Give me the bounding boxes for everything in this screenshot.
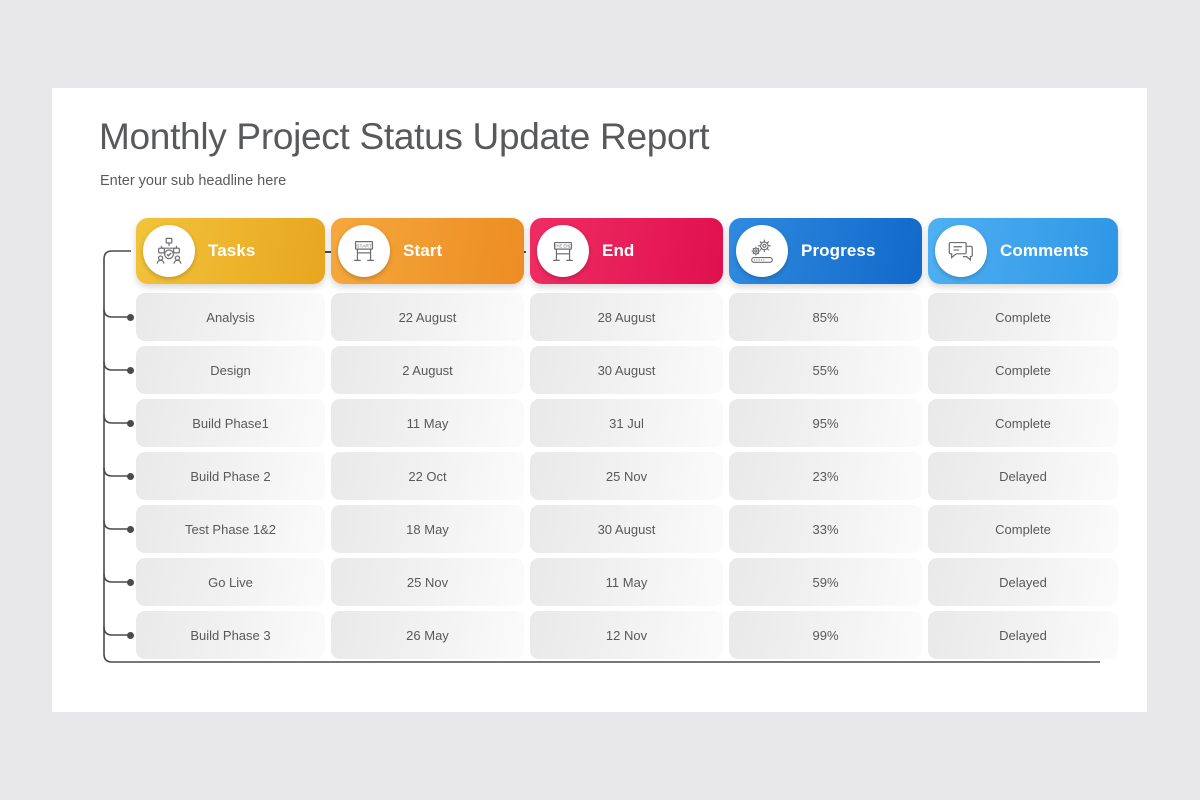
cell-progress[interactable]: 23% <box>729 452 922 500</box>
header-label-comments: Comments <box>1000 241 1089 261</box>
start-banner-icon: START <box>338 225 390 277</box>
cell-start[interactable]: 26 May <box>331 611 524 659</box>
header-cell-end[interactable]: THE END End <box>530 218 723 284</box>
header-cell-comments[interactable]: Comments <box>928 218 1118 284</box>
cell-progress[interactable]: 99% <box>729 611 922 659</box>
cell-task[interactable]: Design <box>136 346 325 394</box>
page-subtitle: Enter your sub headline here <box>100 173 286 189</box>
svg-text:START: START <box>356 243 372 249</box>
cell-end[interactable]: 12 Nov <box>530 611 723 659</box>
header-cell-progress[interactable]: Progress <box>729 218 922 284</box>
cell-start[interactable]: 25 Nov <box>331 558 524 606</box>
slide-card: Monthly Project Status Update Report Ent… <box>52 88 1147 712</box>
cell-comments[interactable]: Delayed <box>928 558 1118 606</box>
cell-task[interactable]: Analysis <box>136 293 325 341</box>
cell-progress[interactable]: 59% <box>729 558 922 606</box>
svg-text:THE END: THE END <box>554 244 572 249</box>
header-label-end: End <box>602 241 634 261</box>
cell-comments[interactable]: Complete <box>928 293 1118 341</box>
table-row: Design2 August30 August55%Complete <box>136 346 1100 394</box>
row-branch-dot <box>127 473 134 480</box>
cell-comments[interactable]: Complete <box>928 399 1118 447</box>
cell-end[interactable]: 31 Jul <box>530 399 723 447</box>
row-branch-dot <box>127 314 134 321</box>
cell-end[interactable]: 25 Nov <box>530 452 723 500</box>
cell-comments[interactable]: Delayed <box>928 611 1118 659</box>
header-label-tasks: Tasks <box>208 241 255 261</box>
cell-comments[interactable]: Complete <box>928 505 1118 553</box>
cell-task[interactable]: Build Phase 3 <box>136 611 325 659</box>
table-header-row: Tasks START Start THE END <box>136 218 1100 284</box>
left-bracket-connector <box>100 218 1100 678</box>
header-cell-tasks[interactable]: Tasks <box>136 218 325 284</box>
status-table: Tasks START Start THE END <box>100 218 1100 678</box>
cell-end[interactable]: 30 August <box>530 505 723 553</box>
cell-progress[interactable]: 55% <box>729 346 922 394</box>
the-end-banner-icon: THE END <box>537 225 589 277</box>
table-row: Build Phase 326 May12 Nov99%Delayed <box>136 611 1100 659</box>
row-branch-dot <box>127 367 134 374</box>
page-title: Monthly Project Status Update Report <box>99 116 709 158</box>
cell-task[interactable]: Test Phase 1&2 <box>136 505 325 553</box>
cell-start[interactable]: 18 May <box>331 505 524 553</box>
cell-start[interactable]: 22 August <box>331 293 524 341</box>
cell-comments[interactable]: Delayed <box>928 452 1118 500</box>
header-label-progress: Progress <box>801 241 876 261</box>
row-branch-dot <box>127 579 134 586</box>
cell-task[interactable]: Build Phase 2 <box>136 452 325 500</box>
cell-task[interactable]: Build Phase1 <box>136 399 325 447</box>
row-branch-dot <box>127 420 134 427</box>
cell-progress[interactable]: 95% <box>729 399 922 447</box>
gears-progress-icon <box>736 225 788 277</box>
cell-task[interactable]: Go Live <box>136 558 325 606</box>
chat-bubbles-icon <box>935 225 987 277</box>
table-row: Analysis22 August28 August85%Complete <box>136 293 1100 341</box>
header-label-start: Start <box>403 241 442 261</box>
team-checkmark-icon <box>143 225 195 277</box>
table-row: Test Phase 1&218 May30 August33%Complete <box>136 505 1100 553</box>
cell-start[interactable]: 2 August <box>331 346 524 394</box>
cell-start[interactable]: 22 Oct <box>331 452 524 500</box>
cell-end[interactable]: 28 August <box>530 293 723 341</box>
cell-progress[interactable]: 33% <box>729 505 922 553</box>
cell-end[interactable]: 11 May <box>530 558 723 606</box>
table-row: Go Live25 Nov11 May59%Delayed <box>136 558 1100 606</box>
cell-start[interactable]: 11 May <box>331 399 524 447</box>
table-row: Build Phase 222 Oct25 Nov23%Delayed <box>136 452 1100 500</box>
table-row: Build Phase111 May31 Jul95%Complete <box>136 399 1100 447</box>
row-branch-dot <box>127 632 134 639</box>
cell-progress[interactable]: 85% <box>729 293 922 341</box>
cell-comments[interactable]: Complete <box>928 346 1118 394</box>
cell-end[interactable]: 30 August <box>530 346 723 394</box>
row-branch-dot <box>127 526 134 533</box>
header-cell-start[interactable]: START Start <box>331 218 524 284</box>
